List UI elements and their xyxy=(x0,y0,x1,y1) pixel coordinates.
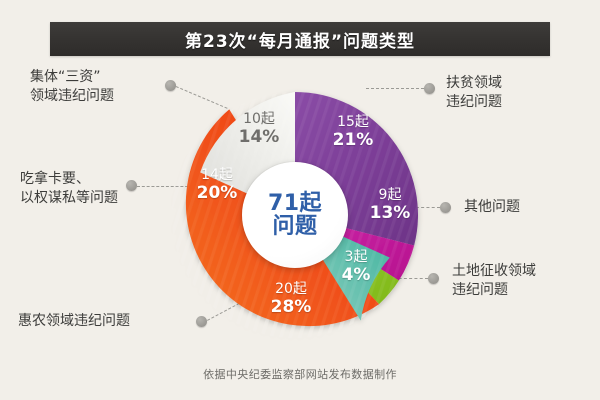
callout-collective-assets: 集体“三资” 领域违纪问题 xyxy=(30,68,114,106)
callout-line: 吃拿卡要、 xyxy=(20,170,118,189)
connector-line-poverty-alleviation xyxy=(366,88,424,89)
source-note: 依据中央纪委监察部网站发布数据制作 xyxy=(0,366,600,382)
donut-chart: 71起 问题 xyxy=(170,90,420,340)
connector-dot-petty-corruption xyxy=(126,180,137,191)
callout-line: 违纪问题 xyxy=(452,281,536,300)
callout-poverty-alleviation: 扶贫领域 违纪问题 xyxy=(446,74,502,112)
callout-line: 集体“三资” xyxy=(30,68,114,87)
callout-line: 其他问题 xyxy=(464,198,520,217)
callout-line: 扶贫领域 xyxy=(446,74,502,93)
callout-line: 领域违纪问题 xyxy=(30,87,114,106)
callout-line: 以权谋私等问题 xyxy=(20,189,118,208)
infographic-canvas: 第23次“每月通报”问题类型 集体“三资” 领域违纪问题 吃拿卡要、 以权谋私等… xyxy=(0,0,600,400)
callout-line: 惠农领域违纪问题 xyxy=(18,312,130,331)
page-title: 第23次“每月通报”问题类型 xyxy=(185,27,415,52)
callout-line: 违纪问题 xyxy=(446,93,502,112)
center-unit: 问题 xyxy=(272,215,317,238)
callout-other-issues: 其他问题 xyxy=(464,198,520,217)
connector-dot-land-acquisition xyxy=(428,273,439,284)
donut-center: 71起 问题 xyxy=(242,162,348,268)
callout-agriculture-benefit: 惠农领域违纪问题 xyxy=(18,312,130,331)
title-bar: 第23次“每月通报”问题类型 xyxy=(50,22,550,56)
callout-land-acquisition: 土地征收领域 违纪问题 xyxy=(452,262,536,300)
connector-dot-other-issues xyxy=(440,202,451,213)
center-count: 71起 xyxy=(268,192,322,215)
callout-petty-corruption: 吃拿卡要、 以权谋私等问题 xyxy=(20,170,118,208)
connector-dot-poverty-alleviation xyxy=(424,83,435,94)
callout-line: 土地征收领域 xyxy=(452,262,536,281)
